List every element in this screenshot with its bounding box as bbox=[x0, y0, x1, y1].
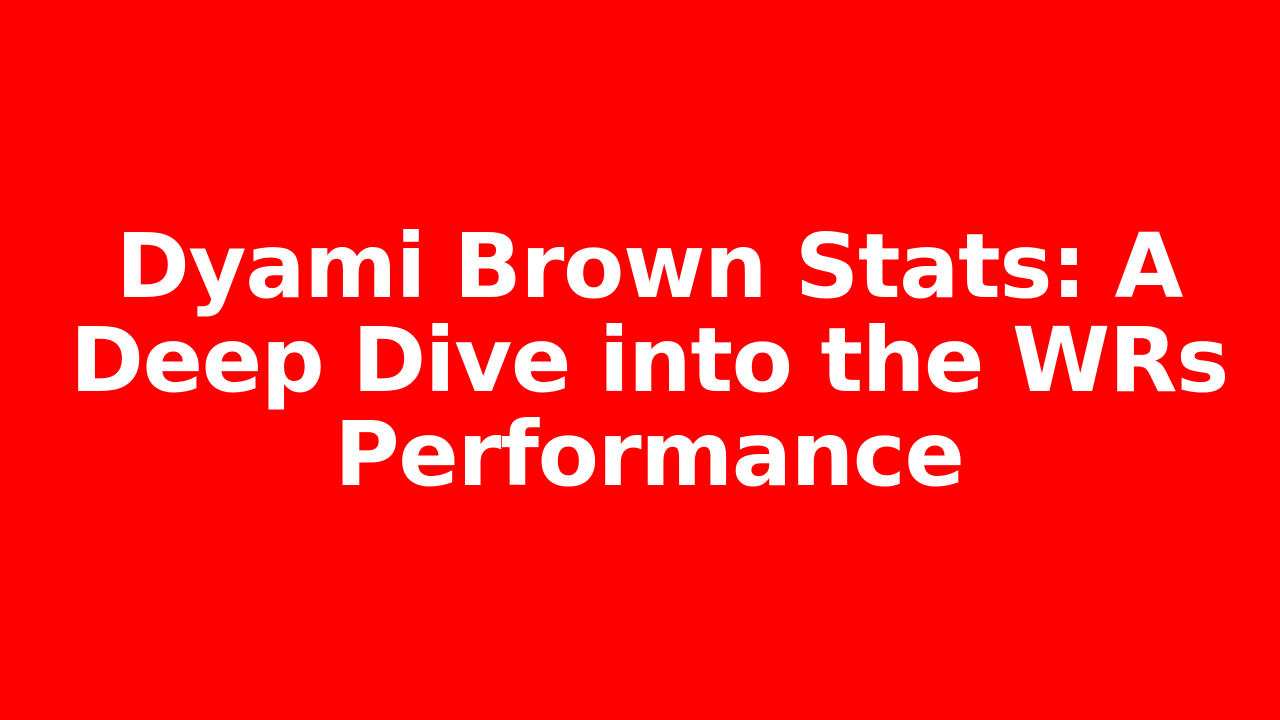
title-container: Dyami Brown Stats: A Deep Dive into the … bbox=[42, 219, 1257, 501]
page-title: Dyami Brown Stats: A Deep Dive into the … bbox=[42, 219, 1257, 501]
hero-banner: Dyami Brown Stats: A Deep Dive into the … bbox=[0, 0, 1280, 720]
